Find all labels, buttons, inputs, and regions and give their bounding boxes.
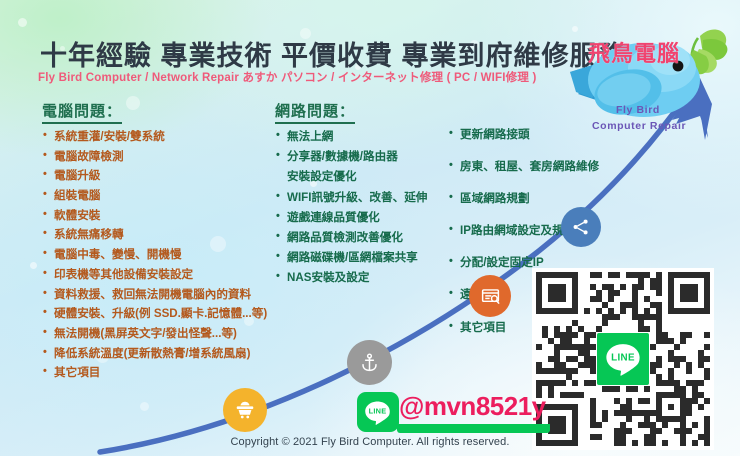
list-item: 安裝設定優化 xyxy=(275,171,427,183)
copyright-text: Copyright © 2021 Fly Bird Computer. All … xyxy=(0,436,740,448)
line-underline-bar xyxy=(397,424,550,433)
list-item: 電腦升級 xyxy=(42,170,267,182)
list-item: 分享器/數據機/路由器 xyxy=(275,151,427,163)
page-title: 十年經驗 專業技術 平價收費 專業到府維修服務 xyxy=(40,34,626,73)
bokeh-dot xyxy=(18,18,27,27)
line-id-text: @mvn8521y xyxy=(399,391,546,422)
list-item: NAS安裝及設定 xyxy=(275,272,427,284)
logo-chinese-name: 飛鳥電腦 xyxy=(588,36,680,68)
line-bubble-icon: LINE xyxy=(602,338,644,380)
monitor-search-icon xyxy=(469,275,511,317)
qr-line-text: LINE xyxy=(611,352,635,363)
list-item: 電腦故障檢測 xyxy=(42,151,267,163)
section-computer-problems: 電腦問題： 系統重灌/安裝/雙系統電腦故障檢測電腦升級組裝電腦軟體安裝系統無痛移… xyxy=(42,100,267,387)
cart-icon xyxy=(223,388,267,432)
list-item: 區域網路規劃 xyxy=(448,193,599,205)
list-item: 降低系統溫度(更新散熱膏/增系統風扇) xyxy=(42,348,267,360)
poster-canvas: 十年經驗 專業技術 平價收費 專業到府維修服務 Fly Bird Compute… xyxy=(0,0,740,456)
line-logo-overlay: LINE xyxy=(597,333,649,385)
list-item: 系統重灌/安裝/雙系統 xyxy=(42,131,267,143)
list-item: 組裝電腦 xyxy=(42,190,267,202)
logo-english-line2: Computer Repair xyxy=(592,120,686,132)
computer-problem-list: 系統重灌/安裝/雙系統電腦故障檢測電腦升級組裝電腦軟體安裝系統無痛移轉電腦中毒、… xyxy=(42,131,267,379)
section-network-problems: 網路問題： 無法上網分享器/數據機/路由器安裝設定優化WIFI訊號升級、改善、延… xyxy=(275,100,427,293)
list-item: 硬體安裝、升級(例 SSD.顯卡.記憶體...等) xyxy=(42,308,267,320)
section-title-computer: 電腦問題： xyxy=(42,100,122,124)
network-problem-list-left: 無法上網分享器/數據機/路由器安裝設定優化WIFI訊號升級、改善、延伸遊戲連線品… xyxy=(275,131,427,284)
list-item: 房東、租屋、套房網路維修 xyxy=(448,161,599,173)
list-item: 網路磁碟機/區網檔案共享 xyxy=(275,252,427,264)
list-item: 網路品質檢測改善優化 xyxy=(275,232,427,244)
bokeh-dot xyxy=(140,402,149,411)
list-item: 電腦中毒、變慢、開機慢 xyxy=(42,249,267,261)
list-item: 系統無痛移轉 xyxy=(42,229,267,241)
section-title-network: 網路問題： xyxy=(275,100,355,124)
list-item: 遊戲連線品質優化 xyxy=(275,212,427,224)
list-item: WIFI訊號升級、改善、延伸 xyxy=(275,192,427,204)
bokeh-dot xyxy=(30,262,37,269)
list-item: 資料救援、救回無法開機電腦內的資料 xyxy=(42,289,267,301)
line-qr-code[interactable]: LINE xyxy=(532,268,714,450)
page-subtitle: Fly Bird Computer / Network Repair あすか パ… xyxy=(38,69,537,85)
list-item: 其它項目 xyxy=(42,367,267,379)
logo-english-line1: Fly Bird xyxy=(616,104,660,116)
list-item: 軟體安裝 xyxy=(42,210,267,222)
list-item: 印表機等其他設備安裝設定 xyxy=(42,269,267,281)
list-item: 無法開機(黑屏英文字/發出怪聲...等) xyxy=(42,328,267,340)
line-bubble-icon: LINE xyxy=(362,397,393,428)
anchor-icon xyxy=(347,340,392,385)
list-item: 更新網路接頭 xyxy=(448,129,599,141)
line-badge-text: LINE xyxy=(369,406,387,415)
list-item: 無法上網 xyxy=(275,131,427,143)
line-badge[interactable]: LINE xyxy=(357,392,399,432)
network-share-icon xyxy=(561,207,601,247)
